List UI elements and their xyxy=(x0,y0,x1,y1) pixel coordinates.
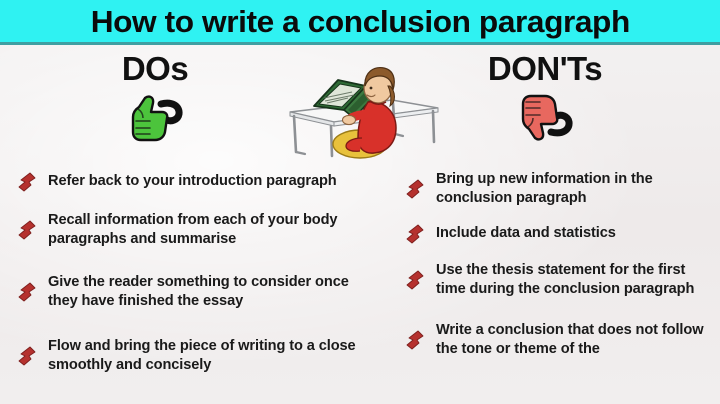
list-item-text: Give the reader something to consider on… xyxy=(48,273,374,311)
list-item-text: Flow and bring the piece of writing to a… xyxy=(48,337,374,375)
arrow-bullet-icon xyxy=(16,171,38,193)
arrow-bullet-icon xyxy=(404,269,426,291)
list-item: Write a conclusion that does not follow … xyxy=(402,321,712,359)
donts-heading: DON'Ts xyxy=(430,52,660,87)
list-item-text: Recall information from each of your bod… xyxy=(48,211,374,249)
list-item-text: Write a conclusion that does not follow … xyxy=(436,321,712,359)
dos-list: Refer back to your introduction paragrap… xyxy=(14,166,374,375)
arrow-bullet-icon xyxy=(404,178,426,200)
header-banner: How to write a conclusion paragraph xyxy=(0,0,720,42)
arrow-bullet-icon xyxy=(404,223,426,245)
thumbs-down-icon xyxy=(430,89,660,147)
arrow-bullet-icon xyxy=(16,281,38,303)
list-item: Refer back to your introduction paragrap… xyxy=(14,172,374,191)
donts-list: Bring up new information in the conclusi… xyxy=(402,166,712,359)
list-item: Use the thesis statement for the first t… xyxy=(402,261,712,299)
list-item-text: Refer back to your introduction paragrap… xyxy=(48,172,337,191)
list-item: Bring up new information in the conclusi… xyxy=(402,170,712,208)
list-item-text: Include data and statistics xyxy=(436,224,616,243)
arrow-bullet-icon xyxy=(16,345,38,367)
dos-heading: DOs xyxy=(40,52,270,87)
page-title: How to write a conclusion paragraph xyxy=(90,6,629,37)
list-item-text: Use the thesis statement for the first t… xyxy=(436,261,712,299)
list-item: Include data and statistics xyxy=(402,224,712,243)
arrow-bullet-icon xyxy=(404,329,426,351)
donts-column-header: DON'Ts xyxy=(430,52,660,147)
person-typing-on-laptop-illustration xyxy=(272,56,448,162)
infographic-root: How to write a conclusion paragraph DOs … xyxy=(0,0,720,404)
list-item: Recall information from each of your bod… xyxy=(14,211,374,249)
list-item-text: Bring up new information in the conclusi… xyxy=(436,170,712,208)
list-item: Give the reader something to consider on… xyxy=(14,273,374,311)
header-divider xyxy=(0,42,720,45)
arrow-bullet-icon xyxy=(16,219,38,241)
dos-column-header: DOs xyxy=(40,52,270,147)
list-item: Flow and bring the piece of writing to a… xyxy=(14,337,374,375)
thumbs-up-icon xyxy=(40,89,270,147)
